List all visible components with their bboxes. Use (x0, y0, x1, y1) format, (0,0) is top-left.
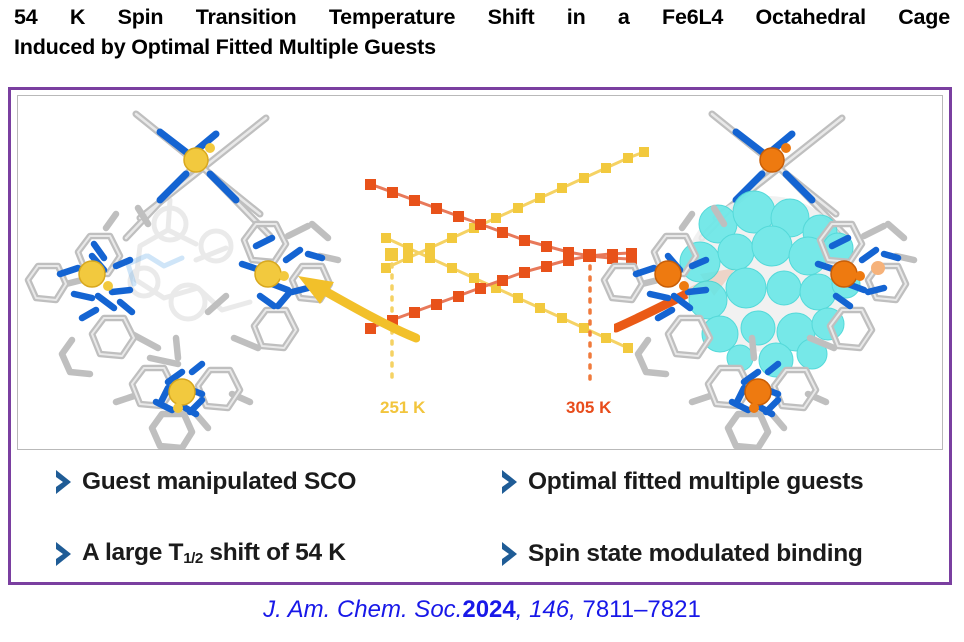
citation-comma-2: , (569, 596, 582, 623)
highlight-guest-manipulated-sco: Guest manipulated SCO (17, 462, 477, 502)
page-title: 54 K Spin Transition Temperature Shift i… (14, 2, 950, 62)
highlight-label: Spin state modulated binding (528, 540, 863, 568)
highlight-label-after: shift of 54 K (203, 539, 346, 566)
temperature-label-low: 251 K (380, 398, 425, 418)
citation-volume: 146 (529, 596, 569, 623)
journal-citation: J. Am. Chem. Soc.2024, 146, 7811–7821 (0, 596, 964, 624)
title-line-1: 54 K Spin Transition Temperature Shift i… (14, 2, 950, 32)
citation-comma-1: , (516, 596, 529, 623)
toc-graphic-card: 251 K 305 K (8, 87, 952, 585)
highlight-label: A large T1/2 shift of 54 K (82, 539, 346, 570)
highlight-label: Guest manipulated SCO (82, 468, 356, 496)
highlights-row: A large T1/2 shift of 54 K Spin state mo… (17, 534, 943, 574)
chevron-right-icon (499, 468, 523, 496)
chevron-right-icon (53, 540, 77, 568)
citation-journal: J. Am. Chem. Soc. (263, 596, 462, 623)
crossing-node-low (385, 248, 398, 261)
yellow-arrow-left-icon (290, 264, 420, 344)
highlight-label: Optimal fitted multiple guests (528, 468, 863, 496)
highlight-label-subscript: 1/2 (183, 550, 203, 567)
highlight-label-before: A large T (82, 539, 183, 566)
citation-year: 2024 (462, 596, 515, 623)
molecule-right-guest-loaded-cage (600, 96, 940, 449)
highlight-t-half-shift: A large T1/2 shift of 54 K (17, 534, 477, 574)
graphic-panel: 251 K 305 K (17, 95, 943, 450)
highlight-optimal-fitted-multiple-guests: Optimal fitted multiple guests (477, 462, 937, 502)
highlights-row: Guest manipulated SCO Optimal fitted mul… (17, 462, 943, 502)
chevron-right-icon (499, 540, 523, 568)
title-line-2: Induced by Optimal Fitted Multiple Guest… (14, 32, 950, 62)
chevron-right-icon (53, 468, 77, 496)
highlight-spin-state-modulated-binding: Spin state modulated binding (477, 534, 937, 574)
crossing-node-high (583, 249, 596, 262)
highlights-list: Guest manipulated SCO Optimal fitted mul… (17, 462, 943, 580)
citation-pages: 7811–7821 (582, 596, 700, 623)
